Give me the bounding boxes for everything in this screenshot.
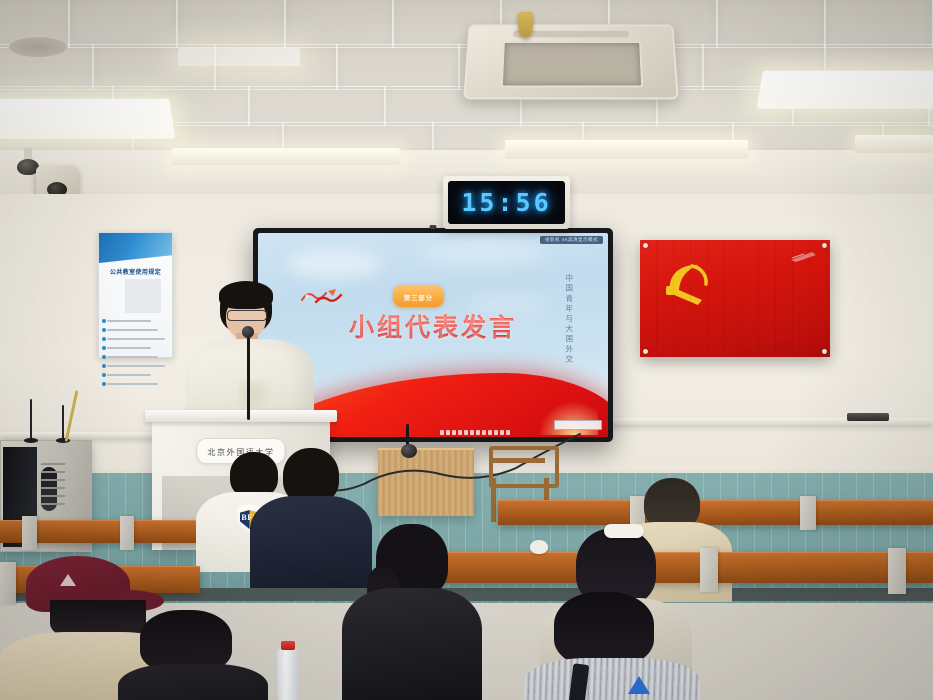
chair-leg [491,478,496,522]
ceiling-tile [248,86,386,126]
sweatshirt-print [238,379,274,413]
fire-sprinkler-icon [518,12,533,38]
flag-fold [792,240,793,357]
wainscot-slat [771,473,772,603]
wainscot-slat [856,473,857,603]
flag-fold [656,240,657,357]
poster-header-band [99,233,172,263]
remote-control[interactable] [847,413,889,421]
bench-post [22,516,37,550]
classroom-scene: 公共教室使用规定 投影机 4K高清显示模式 第三部分 小组代表发言 中国青年与大… [0,0,933,700]
podium-microphone [247,332,250,420]
poster-rule-bullet [102,337,106,341]
person-torso [342,588,482,700]
radio-antenna [62,405,64,441]
ceiling-tile [824,0,933,48]
flag-pin [643,243,648,248]
flag-fold [724,240,725,357]
bench-post [800,496,816,530]
flag-corner-ribbon-icon [790,251,816,263]
poster-rule-bullet [102,346,106,350]
display-webcam-icon [430,225,437,229]
person-head [140,610,232,672]
ceiling-tile [336,44,460,90]
slide-section-badge: 第三部分 [393,285,444,307]
bench-post [700,548,718,592]
speaker-figure [186,283,314,431]
ceiling-ac-unit [463,24,679,99]
audience-striped-person [524,620,700,700]
poster-rule-line [107,347,151,349]
ceiling-light-panel [757,71,933,109]
slide-info-bar: 投影机 4K高清显示模式 [540,236,603,244]
audience-ponytail-person [342,524,482,700]
wainscot-slat [805,473,806,603]
flag-fold [758,240,759,357]
ceiling-tile [284,0,394,48]
flag-fold [775,240,776,357]
radio-antenna [30,399,32,441]
bottle-cap-icon [281,641,295,650]
chair-slat [491,458,545,463]
bench-post [888,548,906,594]
classroom-rules-poster: 公共教室使用规定 [98,232,173,358]
poster-rule-bullet [102,355,106,359]
ceiling-light-panel [0,99,175,139]
glasses-icon [227,310,267,321]
ceiling-tile [176,0,286,48]
person-head [554,592,654,666]
clock-time-label: 15:56 [461,188,551,217]
bench-post [120,516,134,550]
person-torso [118,664,268,700]
wall-ledge [0,432,160,438]
poster-title: 公共教室使用规定 [99,267,172,276]
poster-rule-bullet [102,382,106,386]
ceiling-tile [716,0,826,48]
slide-vertical-subtitle: 中国青年与大国外交 [564,274,575,365]
antenna-base [24,438,38,443]
digital-wall-clock: 15:56 [443,176,570,229]
ceiling-tile [68,0,178,48]
wainscot-slat [924,473,925,603]
wainscot-slat [873,473,874,603]
poster-rule-bullet [102,364,106,368]
flag-fold [673,240,674,357]
wainscot-slat [822,473,823,603]
poster-rule-bullet [102,328,106,332]
water-bottle[interactable] [276,648,300,700]
cpc-party-flag [640,240,830,357]
slide-section-badge-label: 第三部分 [404,295,433,302]
speaker-hair [219,281,273,309]
flag-fold [809,240,810,357]
flag-fold [826,240,827,357]
poster-rule-bullet [102,319,106,323]
wainscot-slat [737,473,738,603]
poster-rule-line [107,329,158,331]
flag-fold [741,240,742,357]
microphone-head-icon [242,326,254,338]
flag-pin [643,349,648,354]
flag-fold [707,240,708,357]
ceiling-light-panel [178,48,300,66]
wainscot-slat [788,473,789,603]
hair-band [604,524,644,538]
wainscot-slat [839,473,840,603]
flag-fold [690,240,691,357]
clock-face: 15:56 [448,181,565,224]
audience-edge-person [118,628,268,700]
poster-rule-bullet [102,373,106,377]
person-torso [524,658,700,700]
wainscot-slat [754,473,755,603]
wainscot-slat [907,473,908,603]
poster-rule-line [107,320,151,322]
ceiling-light-strip [855,135,933,153]
poster-rule-line [107,338,165,340]
ceiling-vent-icon [8,36,68,58]
podium-top [145,410,337,422]
slide-taskbar-window[interactable] [554,420,602,430]
ac-grille [501,41,644,87]
poster-watermark [125,279,161,313]
ceiling-light-strip [505,140,748,159]
ceiling-light-strip [172,148,400,165]
